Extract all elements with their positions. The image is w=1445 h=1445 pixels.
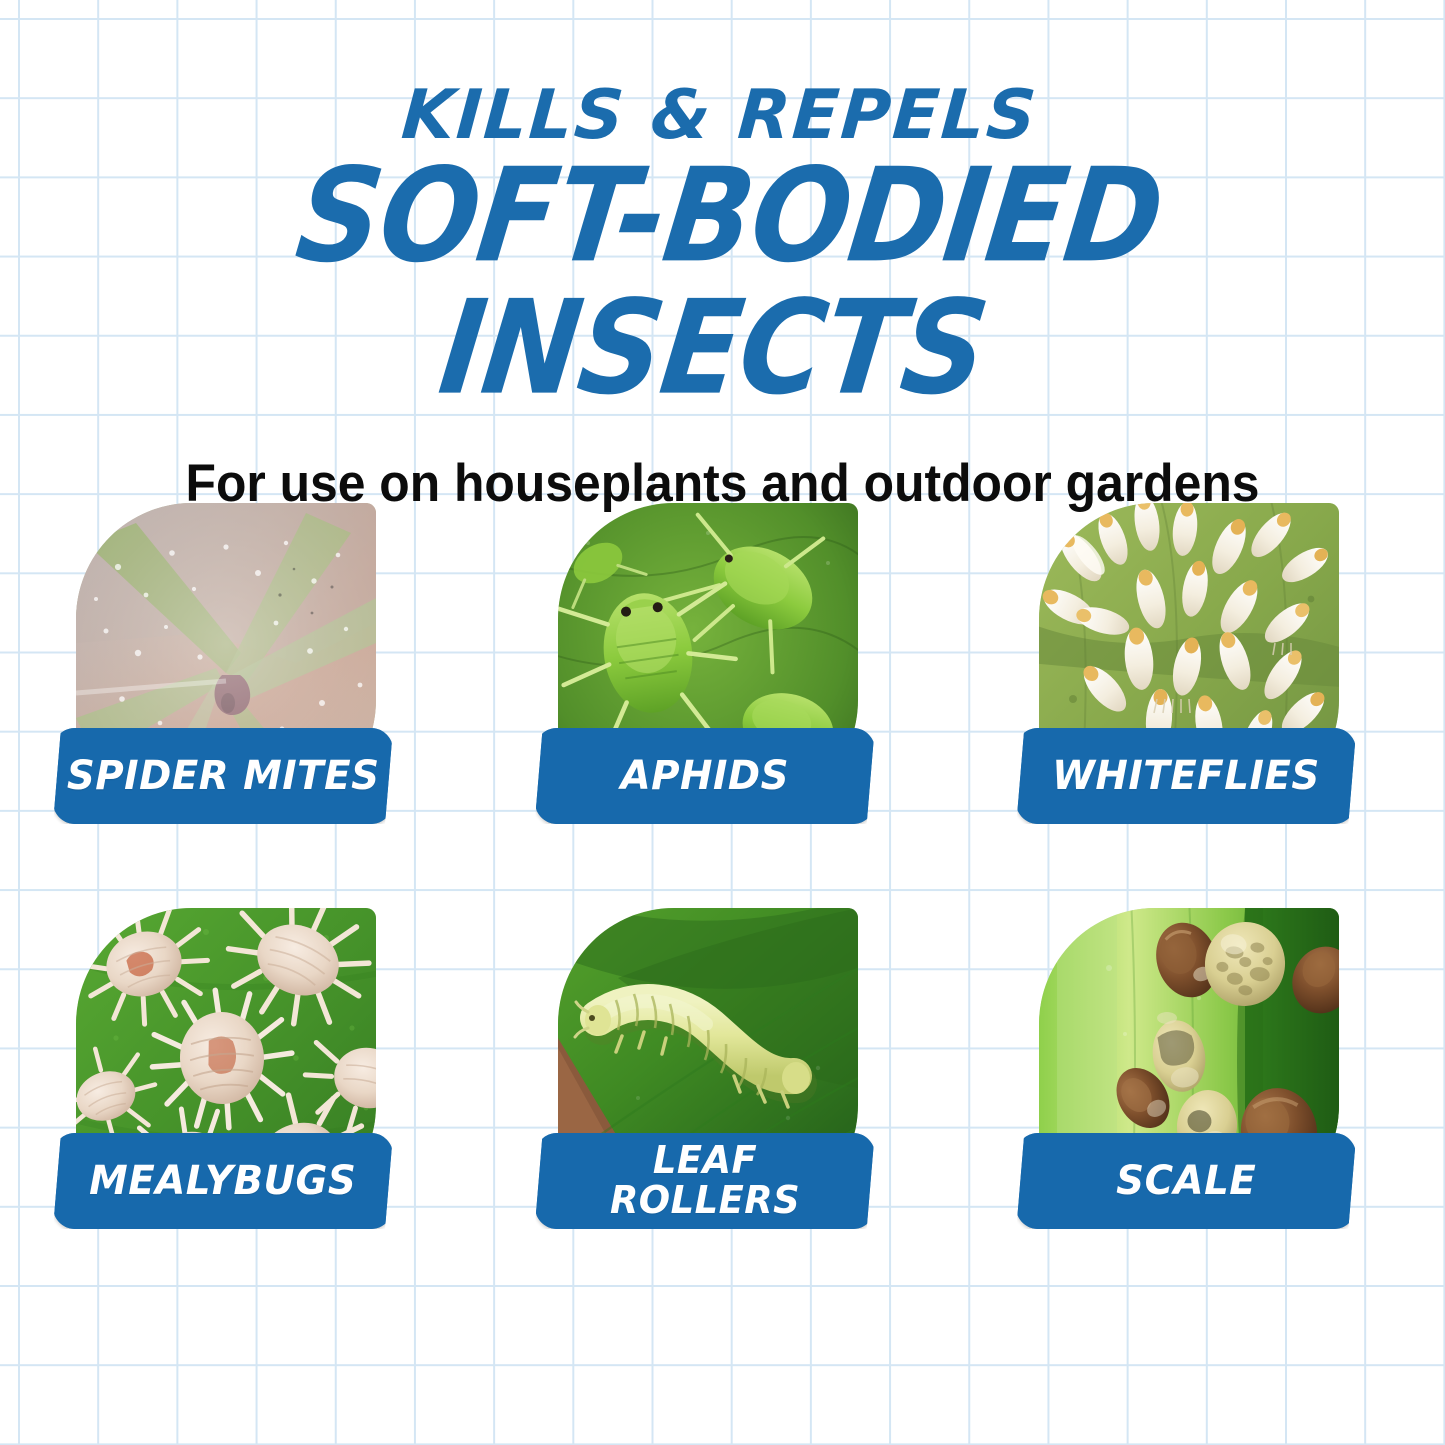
kicker-text: KILLS & REPELS — [0, 0, 1445, 150]
pest-label-text: MEALYBUGS — [89, 1161, 356, 1202]
pest-label-text: SPIDER MITES — [67, 756, 380, 797]
pest-label-text: APHIDS — [620, 756, 788, 797]
pest-label-badge[interactable]: LEAF ROLLERS — [535, 1133, 875, 1229]
pest-card-scale[interactable]: SCALE — [963, 900, 1445, 1301]
pest-card-mealybugs[interactable]: MEALYBUGS — [0, 900, 482, 1301]
pest-label-text: SCALE — [1116, 1161, 1256, 1202]
pest-card-whiteflies[interactable]: WHITEFLIES — [963, 495, 1445, 896]
pest-label-badge[interactable]: SPIDER MITES — [53, 728, 393, 824]
pest-label-badge[interactable]: MEALYBUGS — [53, 1133, 393, 1229]
pest-card-leaf-rollers[interactable]: LEAF ROLLERS — [482, 900, 964, 1301]
pest-card-spider-mites[interactable]: SPIDER MITES — [0, 495, 482, 896]
pest-label-text: WHITEFLIES — [1052, 756, 1320, 797]
subtitle-text: For use on houseplants and outdoor garde… — [43, 401, 1401, 510]
pest-grid: SPIDER MITES — [0, 495, 1445, 1301]
header-block: KILLS & REPELS SOFT-BODIED INSECTS For u… — [0, 0, 1445, 510]
pest-card-aphids[interactable]: APHIDS — [482, 495, 964, 896]
pest-label-badge[interactable]: WHITEFLIES — [1016, 728, 1356, 824]
pest-label-badge[interactable]: APHIDS — [535, 728, 875, 824]
page-title: SOFT-BODIED INSECTS — [0, 135, 1445, 416]
pest-label-badge[interactable]: SCALE — [1016, 1133, 1356, 1229]
pest-label-text: LEAF ROLLERS — [610, 1141, 800, 1221]
